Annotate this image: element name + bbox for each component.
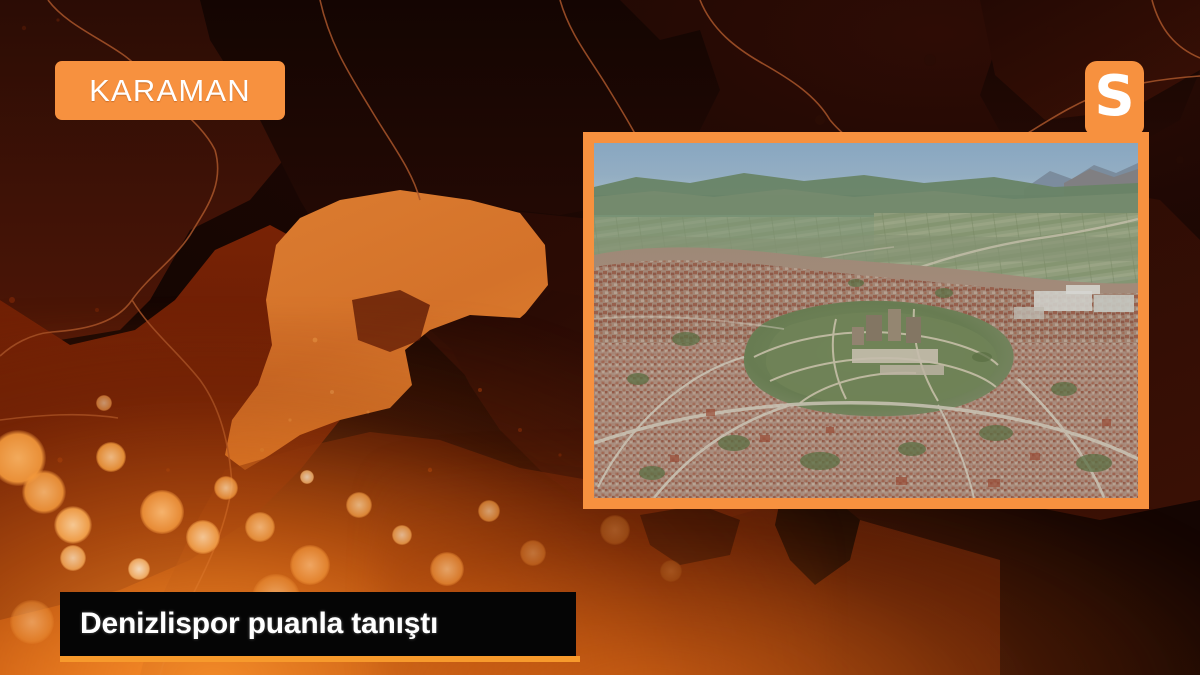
headline-underline [60,656,580,662]
brand-logo-letter: S [1094,69,1134,125]
location-badge: KARAMAN [55,61,285,120]
aerial-city-photo-svg [594,143,1138,498]
location-badge-label: KARAMAN [89,73,251,109]
headline-text: Denizlispor puanla tanıştı [80,607,438,641]
article-photo-frame[interactable] [583,132,1149,509]
headline-bar: Denizlispor puanla tanıştı [60,592,576,656]
news-card: KARAMAN S [0,0,1200,675]
brand-s-logo-icon[interactable]: S [1085,61,1144,135]
article-photo [594,143,1138,498]
